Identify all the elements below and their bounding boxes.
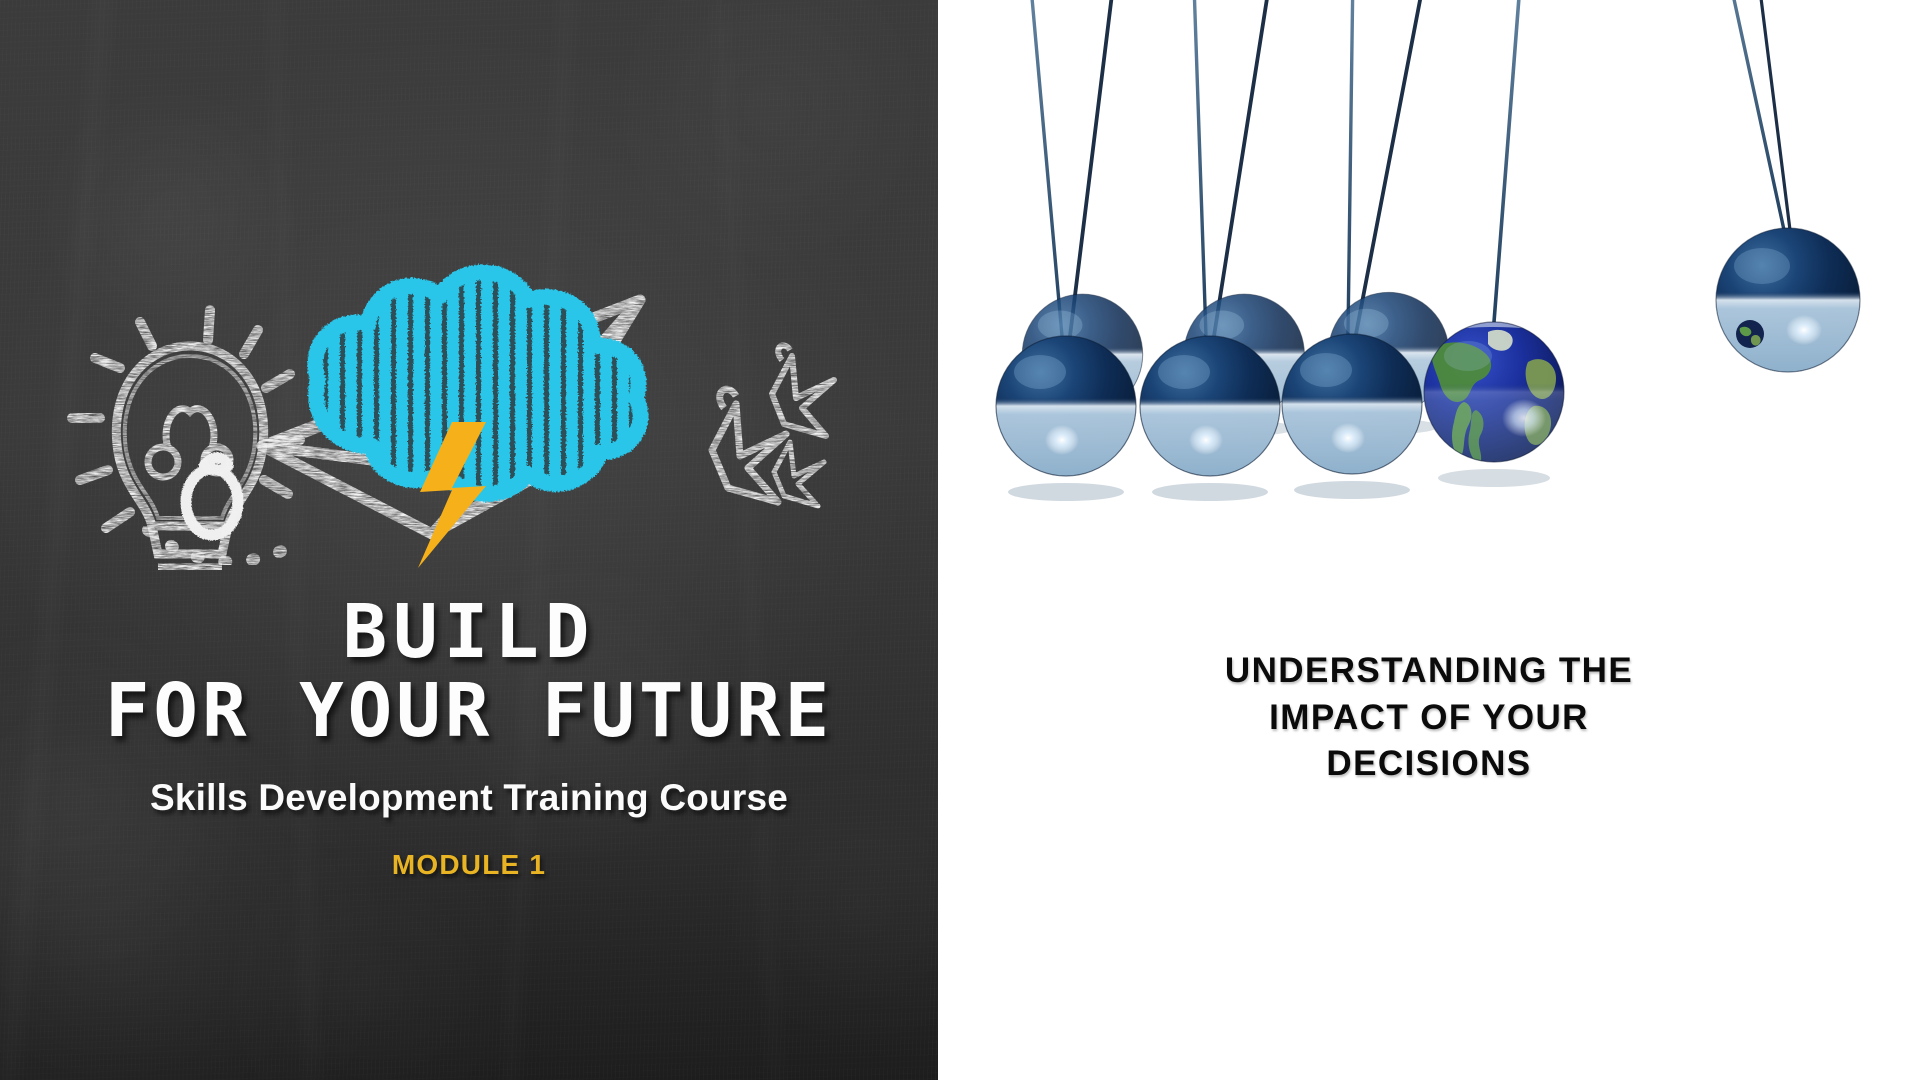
page-title-line-1: BUILD: [0, 596, 938, 669]
chalkboard-slide-panel: BUILD FOR YOUR FUTURE Skills Development…: [0, 0, 938, 1080]
newtons-cradle-illustration: [938, 0, 1920, 620]
chalk-lightbulb-icon: [72, 310, 300, 570]
cradle-sphere-3: [1282, 334, 1422, 499]
caption-line-1: UNDERSTANDING THE: [1058, 648, 1800, 695]
chalk-stars-icon: [712, 345, 834, 506]
newtons-cradle-slide-panel: UNDERSTANDING THE IMPACT OF YOUR DECISIO…: [938, 0, 1920, 1080]
chalkboard-illustration: [0, 150, 938, 570]
cradle-wires: [1010, 0, 1790, 336]
cradle-swinging-sphere: [1716, 228, 1860, 372]
slide-caption-block: UNDERSTANDING THE IMPACT OF YOUR DECISIO…: [938, 648, 1920, 788]
cradle-globe-sphere: [1424, 322, 1564, 487]
caption-line-2: IMPACT OF YOUR: [1058, 695, 1800, 742]
slide-title-block: BUILD FOR YOUR FUTURE Skills Development…: [0, 596, 938, 881]
caption-line-3: DECISIONS: [1058, 741, 1800, 788]
page-title-line-2: FOR YOUR FUTURE: [0, 675, 938, 748]
cradle-sphere-2: [1140, 336, 1280, 501]
cradle-sphere-1: [996, 336, 1136, 501]
module-badge: MODULE 1: [0, 849, 938, 881]
course-subtitle: Skills Development Training Course: [0, 777, 938, 819]
